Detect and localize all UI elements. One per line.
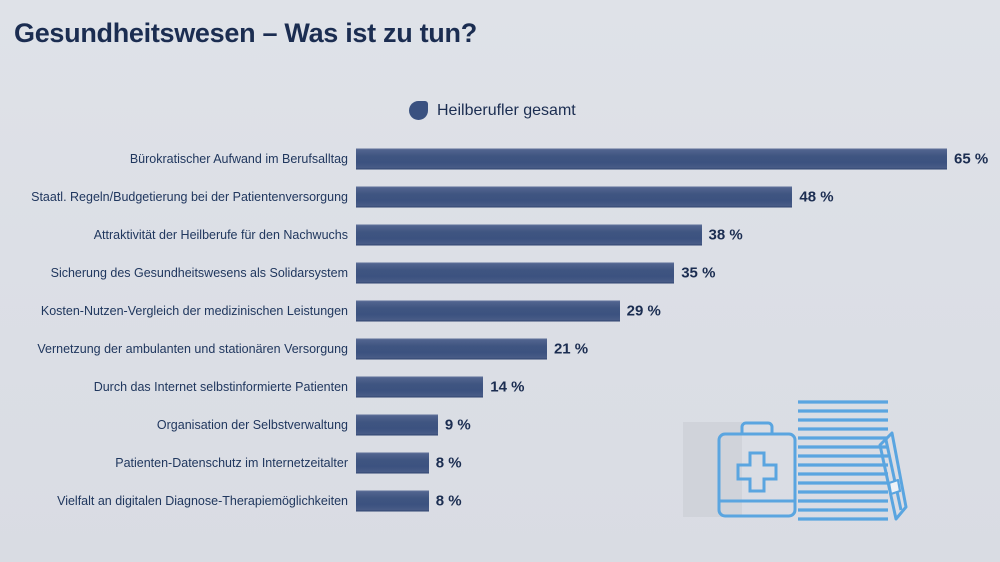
bar-row: Patienten-Datenschutz im Internetzeitalt…	[0, 444, 1000, 482]
bar-track: 9 %	[356, 415, 471, 436]
bar	[356, 187, 792, 208]
bar	[356, 149, 947, 170]
legend-label: Heilberufler gesamt	[437, 102, 576, 120]
bar-category-label: Sicherung des Gesundheitswesens als Soli…	[51, 266, 348, 280]
bar-track: 48 %	[356, 187, 834, 208]
bar	[356, 339, 547, 360]
bar-value-label: 38 %	[709, 227, 743, 244]
bar-track: 8 %	[356, 453, 462, 474]
bar-row: Sicherung des Gesundheitswesens als Soli…	[0, 254, 1000, 292]
bar	[356, 301, 620, 322]
bar	[356, 453, 429, 474]
bar-row: Vielfalt an digitalen Diagnose-Therapiem…	[0, 482, 1000, 520]
bar	[356, 225, 702, 246]
bar-category-label: Durch das Internet selbstinformierte Pat…	[94, 380, 348, 394]
bar-track: 29 %	[356, 301, 661, 322]
bar-row: Kosten-Nutzen-Vergleich der medizinische…	[0, 292, 1000, 330]
chart-page: Gesundheitswesen – Was ist zu tun? Heilb…	[0, 0, 1000, 562]
bar-row: Organisation der Selbstverwaltung9 %	[0, 406, 1000, 444]
bar-track: 8 %	[356, 491, 462, 512]
bar-category-label: Vielfalt an digitalen Diagnose-Therapiem…	[57, 494, 348, 508]
bar-category-label: Bürokratischer Aufwand im Berufsalltag	[130, 152, 348, 166]
bar-chart: Bürokratischer Aufwand im Berufsalltag65…	[0, 140, 1000, 520]
bar-row: Attraktivität der Heilberufe für den Nac…	[0, 216, 1000, 254]
chart-legend: Heilberufler gesamt	[409, 101, 576, 120]
bar-category-label: Kosten-Nutzen-Vergleich der medizinische…	[41, 304, 348, 318]
bar-category-label: Patienten-Datenschutz im Internetzeitalt…	[115, 456, 348, 470]
bar-category-label: Organisation der Selbstverwaltung	[157, 418, 348, 432]
bar-value-label: 29 %	[627, 303, 661, 320]
bar-row: Bürokratischer Aufwand im Berufsalltag65…	[0, 140, 1000, 178]
bar	[356, 415, 438, 436]
bar-value-label: 48 %	[799, 189, 833, 206]
bar-track: 65 %	[356, 149, 988, 170]
bar-category-label: Staatl. Regeln/Budgetierung bei der Pati…	[31, 190, 348, 204]
bar-category-label: Vernetzung der ambulanten und stationäre…	[37, 342, 348, 356]
bar	[356, 263, 674, 284]
bar-category-label: Attraktivität der Heilberufe für den Nac…	[94, 228, 348, 242]
bar	[356, 491, 429, 512]
bar-row: Durch das Internet selbstinformierte Pat…	[0, 368, 1000, 406]
page-title: Gesundheitswesen – Was ist zu tun?	[14, 18, 477, 49]
bar-value-label: 21 %	[554, 341, 588, 358]
bar-value-label: 14 %	[490, 379, 524, 396]
bar-value-label: 35 %	[681, 265, 715, 282]
bar-row: Vernetzung der ambulanten und stationäre…	[0, 330, 1000, 368]
legend-marker-icon	[409, 101, 428, 120]
bar-track: 35 %	[356, 263, 715, 284]
bar-value-label: 8 %	[436, 455, 462, 472]
bar	[356, 377, 483, 398]
bar-value-label: 8 %	[436, 493, 462, 510]
bar-value-label: 9 %	[445, 417, 471, 434]
bar-track: 14 %	[356, 377, 524, 398]
bar-value-label: 65 %	[954, 151, 988, 168]
bar-row: Staatl. Regeln/Budgetierung bei der Pati…	[0, 178, 1000, 216]
bar-track: 21 %	[356, 339, 588, 360]
bar-track: 38 %	[356, 225, 743, 246]
